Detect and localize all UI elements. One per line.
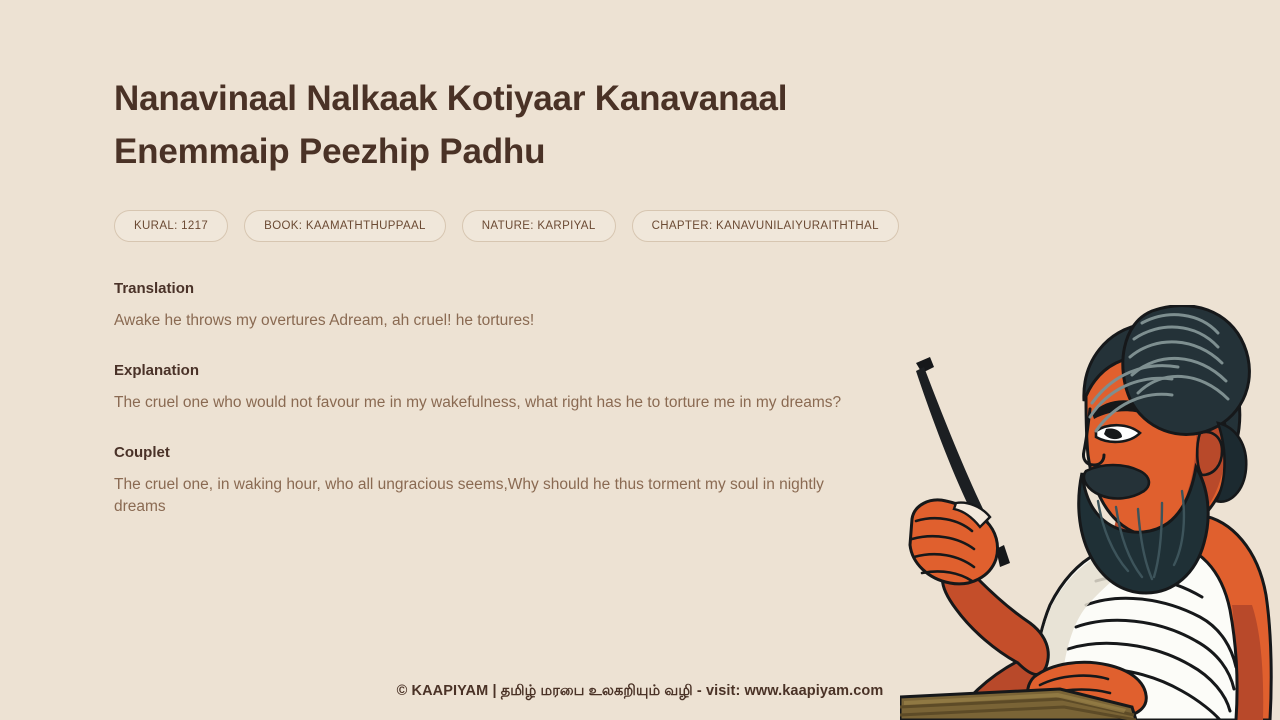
section-couplet: Couplet The cruel one, in waking hour, w… [114,444,934,518]
sage-hair [1084,322,1240,455]
hair-strands [1090,315,1228,431]
translation-label: Translation [114,280,934,298]
section-explanation: Explanation The cruel one who would not … [114,362,934,414]
sage-face-shade [1168,343,1227,529]
page-title: Nanavinaal Nalkaak Kotiyaar Kanavanaal E… [114,72,874,178]
sage-far-arm-shade [1230,605,1263,720]
kural-title-line-2: Enemmaip Peezhip Padhu [114,132,545,171]
translation-text: Awake he throws my overtures Adream, ah … [114,310,854,332]
couplet-text: The cruel one, in waking hour, who all u… [114,474,849,518]
badge-row: KURAL: 1217 BOOK: KAAMATHTHUPPAAL NATURE… [114,210,934,242]
beard-strands [1098,491,1184,579]
sage-neck [1114,501,1181,578]
badge-chapter[interactable]: CHAPTER: KANAVUNILAIYURAITHTHAL [632,210,899,242]
explanation-text: The cruel one who would not favour me in… [114,392,854,414]
sage-topknot [1123,306,1250,435]
explanation-label: Explanation [114,362,934,380]
sage-hair-tail [1216,423,1246,502]
sage-eye [1096,425,1140,442]
section-translation: Translation Awake he throws my overtures… [114,280,934,332]
sage-pupil [1104,428,1122,439]
kural-content: Nanavinaal Nalkaak Kotiyaar Kanavanaal E… [114,72,934,518]
sage-moustache [1084,465,1149,498]
sage-eyebrow [1092,400,1151,419]
stylus-hand-fingers [912,518,974,581]
thiruvalluvar-illustration [900,305,1280,720]
sage-nose [1083,409,1104,465]
footer-credit: © KAAPIYAM | தமிழ் மரபை உலகறியும் வழி - … [0,683,1280,701]
sage-ear [1197,432,1222,475]
badge-kural-number[interactable]: KURAL: 1217 [114,210,228,242]
sage-forearm [943,567,1049,674]
badge-book[interactable]: BOOK: KAAMATHTHUPPAAL [244,210,446,242]
badge-nature[interactable]: NATURE: KARPIYAL [462,210,616,242]
couplet-label: Couplet [114,444,934,462]
stylus-thumb [954,503,990,527]
sage-face [1086,329,1235,536]
sage-beard [1079,467,1208,593]
kural-title-line-1: Nanavinaal Nalkaak Kotiyaar Kanavanaal [114,72,874,125]
kural-card-page: Nanavinaal Nalkaak Kotiyaar Kanavanaal E… [0,0,1280,720]
